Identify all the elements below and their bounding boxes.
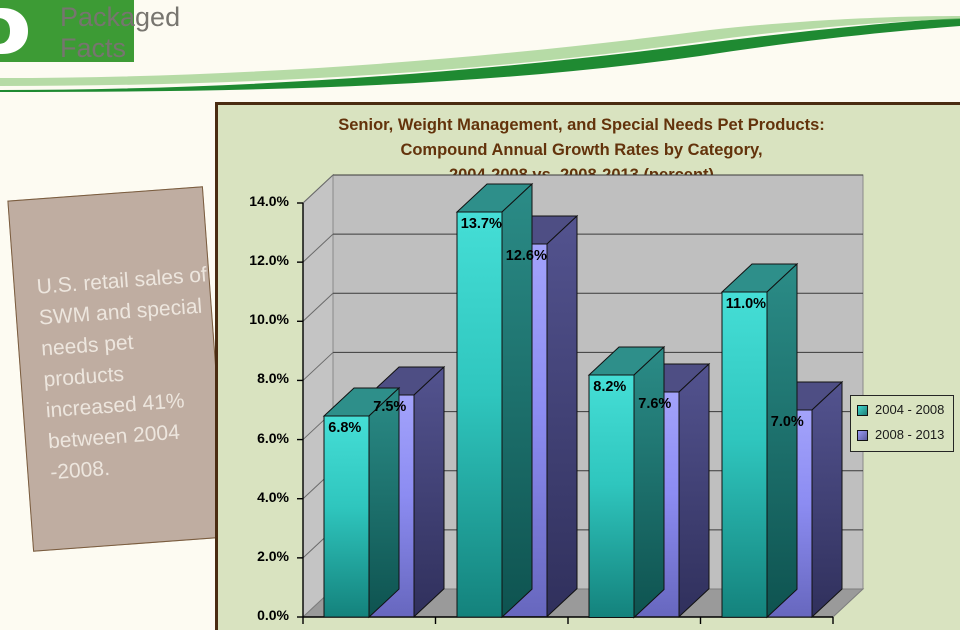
bar-value-label: 7.6% bbox=[638, 396, 671, 412]
bar-value-label: 13.7% bbox=[461, 216, 502, 232]
y-axis-label-80: 8.0% bbox=[227, 370, 289, 386]
bar-2004-2008-group-4[interactable] bbox=[722, 264, 767, 617]
y-axis-label-40: 4.0% bbox=[227, 489, 289, 505]
bar-3d-faces bbox=[722, 264, 797, 617]
y-axis-label-120: 12.0% bbox=[227, 252, 289, 268]
y-axis-label-60: 6.0% bbox=[227, 430, 289, 446]
y-axis-label-00: 0.0% bbox=[227, 607, 289, 623]
legend-swatch-series-1 bbox=[857, 405, 868, 416]
y-axis-label-20: 2.0% bbox=[227, 548, 289, 564]
y-axis-label-100: 10.0% bbox=[227, 311, 289, 327]
legend-swatch-series-2 bbox=[857, 430, 868, 441]
bar-value-label: 8.2% bbox=[593, 379, 626, 395]
page-header: Packaged Facts bbox=[0, 0, 960, 92]
y-axis-label-140: 14.0% bbox=[227, 193, 289, 209]
chart-panel: Senior, Weight Management, and Special N… bbox=[215, 102, 960, 630]
brand-swoosh-decoration bbox=[0, 16, 960, 92]
bar-value-label: 6.8% bbox=[328, 420, 361, 436]
bar-value-label: 7.5% bbox=[373, 399, 406, 415]
bar-value-label: 7.0% bbox=[771, 414, 804, 430]
legend-label-series-1: 2004 - 2008 bbox=[875, 402, 944, 417]
callout-text: U.S. retail sales of SWM and special nee… bbox=[36, 259, 226, 488]
plot-area: 0.0%2.0%4.0%6.0%8.0%10.0%12.0%14.0% 6.8%… bbox=[218, 105, 960, 630]
bar-value-label: 11.0% bbox=[726, 296, 766, 312]
callout-box: U.S. retail sales of SWM and special nee… bbox=[7, 186, 228, 551]
chart-legend: 2004 - 2008 2008 - 2013 bbox=[850, 395, 954, 452]
bar-2004-2008-group-2[interactable] bbox=[457, 184, 502, 617]
legend-label-series-2: 2008 - 2013 bbox=[875, 427, 944, 442]
bar-value-label: 12.6% bbox=[506, 248, 547, 264]
